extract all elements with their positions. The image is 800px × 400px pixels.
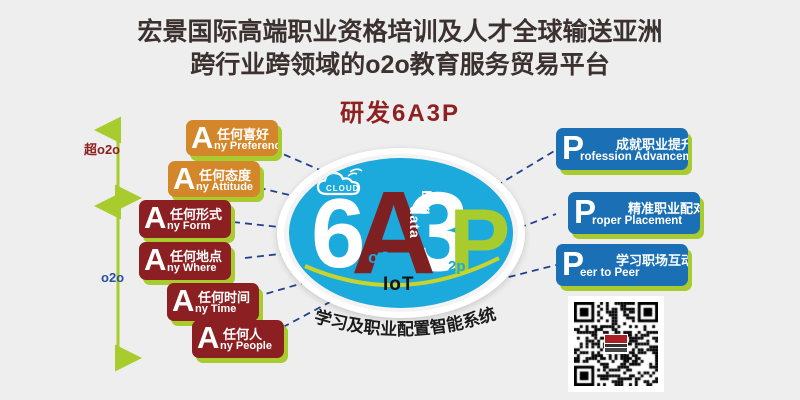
card-face: A 任何人 ny People [192,320,284,358]
card-label-en: ny Preference [214,140,278,152]
card-face: P 学习职场互动 eer to Peer [556,244,688,286]
card-any-preference[interactable]: A 任何喜好 ny Preference [186,120,278,156]
micro-label-2p: 2p [448,258,466,275]
qr-code-logo [604,334,628,354]
card-label-en: ny Where [167,262,217,274]
cloud-label: CLOUD [326,184,359,193]
card-face: P 精准职业配对 roper Placement [568,192,700,234]
qr-code[interactable] [568,296,664,392]
card-label-en: ny People [220,340,272,352]
card-label-en: ny Time [195,303,236,315]
card-label-en: rofession Advancement [580,151,688,163]
card-initial: A [197,321,219,355]
card-initial: A [191,121,213,155]
card-any-time[interactable]: A 任何时间 ny Time [167,283,259,321]
card-face: A 任何时间 ny Time [167,283,259,321]
card-initial: A [144,201,166,235]
card-label-en: ny Form [167,220,210,232]
card-proper-placement[interactable]: P 精准职业配对 roper Placement [568,192,700,234]
card-peer-to-peer[interactable]: P 学习职场互动 eer to Peer [556,244,688,286]
card-any-attitude[interactable]: A 任何态度 ny Attitude [168,161,260,197]
infographic-canvas: 宏景国际高端职业资格培训及人才全球输送亚洲 跨行业跨领域的o2o教育服务贸易平台… [0,0,800,400]
center-caption-text: 学习及职业配置智能系统 [312,303,498,339]
card-label-en: eer to Peer [580,267,639,279]
card-initial: A [172,284,194,318]
svg-text:学习及职业配置智能系统: 学习及职业配置智能系统 [312,303,498,339]
card-label-en: roper Placement [592,215,682,227]
card-any-where[interactable]: A 任何地点 ny Where [139,242,231,280]
card-initial: A [173,162,195,196]
card-label-en: ny Attitude [196,181,253,193]
card-face: A 任何态度 ny Attitude [168,161,260,197]
cloud-icon [315,168,365,198]
center-oval: CLOUD 6 3 A P o2o Big data 2p IoT [289,158,513,308]
card-face: P 成就职业提升 rofession Advancement [556,128,688,170]
card-any-people[interactable]: A 任何人 ny People [192,320,284,358]
card-face: A 任何地点 ny Where [139,242,231,280]
micro-label-data: data [407,206,423,239]
card-initial: A [144,243,166,277]
card-profession-advancement[interactable]: P 成就职业提升 rofession Advancement [556,128,688,170]
card-face: A 任何喜好 ny Preference [186,120,278,156]
card-any-form[interactable]: A 任何形式 ny Form [139,200,231,238]
card-face: A 任何形式 ny Form [139,200,231,238]
iot-label: IoT [383,274,415,296]
micro-label-o2o: o2o [368,248,404,268]
